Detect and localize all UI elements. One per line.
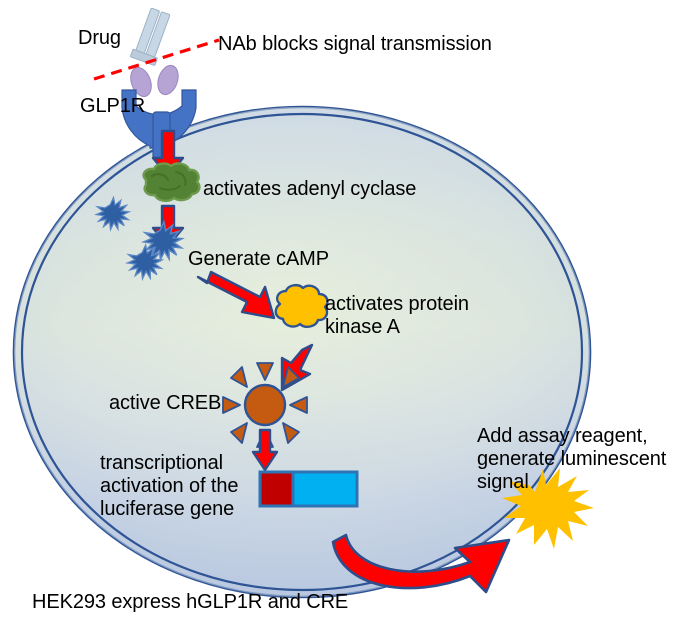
pathway-diagram: Drug NAb blocks signal transmission GLP1… [0, 0, 691, 630]
adenyl-cyclase-blob-icon [144, 163, 200, 200]
drug-label: Drug [78, 27, 121, 50]
glp1r-label: GLP1R [80, 95, 145, 118]
nab-block-label: NAb blocks signal transmission [218, 33, 492, 56]
cell-line-caption: HEK293 express hGLP1R and CRE [32, 591, 348, 614]
camp-label: Generate cAMP [188, 248, 329, 271]
protein-kinase-a-blob-icon [276, 285, 328, 327]
adenyl-cyclase-label: activates adenyl cyclase [203, 178, 416, 201]
luciferase-gene-bar-icon [260, 472, 357, 506]
drug-molecule-icon [127, 7, 182, 99]
active-creb-label: active CREB [109, 392, 221, 415]
protein-kinase-a-label: activates protein kinase A [325, 293, 469, 339]
assay-reagent-label: Add assay reagent, generate luminescent … [477, 425, 666, 494]
transcription-label: transcriptional activation of the lucife… [100, 452, 238, 521]
